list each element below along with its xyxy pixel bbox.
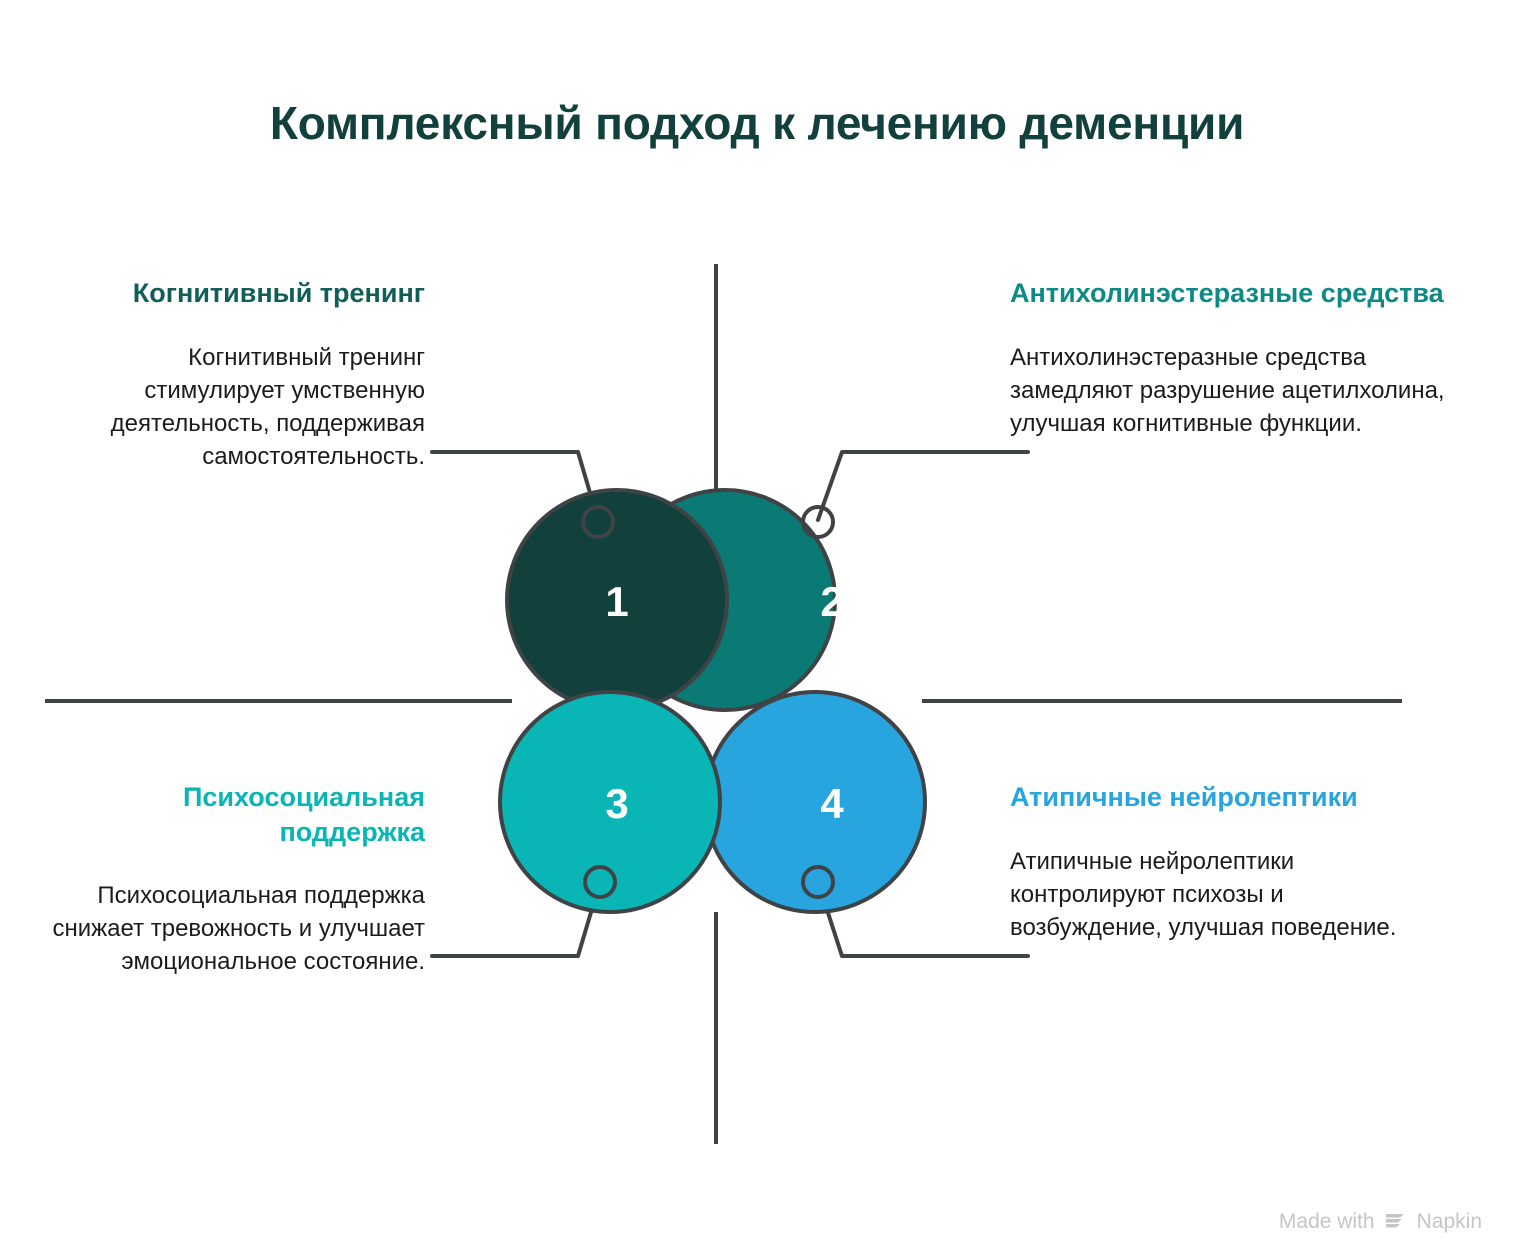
napkin-logo-icon	[1384, 1212, 1408, 1232]
venn-circle-4[interactable]	[705, 692, 925, 912]
quadrant-cognitive-training: Когнитивный тренинг Когнитивный тренинг …	[45, 276, 425, 473]
quadrant-2-body: Антихолинэстеразные средства замедляют р…	[1010, 341, 1450, 440]
quadrant-3-body: Психосоциальная поддержка снижает тревож…	[35, 879, 425, 978]
quadrant-1-body: Когнитивный тренинг стимулирует умственн…	[45, 341, 425, 473]
venn-circle-1-number: 1	[605, 578, 628, 625]
quadrant-atypical-antipsychotics: Атипичные нейролептики Атипичные нейроле…	[1010, 780, 1410, 944]
quadrant-2-heading: Антихолинэстеразные средства	[1010, 276, 1450, 311]
quadrant-anticholinesterase-agents: Антихолинэстеразные средства Антихолинэс…	[1010, 276, 1450, 440]
quadrant-3-heading: Психосоциальная поддержка	[35, 780, 425, 849]
napkin-watermark: Made with Napkin	[1279, 1210, 1482, 1234]
quadrant-psychosocial-support: Психосоциальная поддержка Психосоциальна…	[35, 780, 425, 978]
quadrant-4-body: Атипичные нейролептики контролируют псих…	[1010, 845, 1410, 944]
page-title: Комплексный подход к лечению деменции	[0, 96, 1514, 150]
quadrant-1-heading: Когнитивный тренинг	[45, 276, 425, 311]
watermark-brand: Napkin	[1417, 1210, 1482, 1234]
venn-circle-cluster: 1 2 3 4	[420, 420, 1040, 1000]
venn-circle-2-number: 2	[820, 578, 843, 625]
venn-circle-4-number: 4	[820, 780, 844, 827]
watermark-prefix: Made with	[1279, 1210, 1375, 1234]
connector-line-2	[818, 452, 1028, 520]
venn-circle-3-number: 3	[605, 780, 628, 827]
quadrant-4-heading: Атипичные нейролептики	[1010, 780, 1410, 815]
